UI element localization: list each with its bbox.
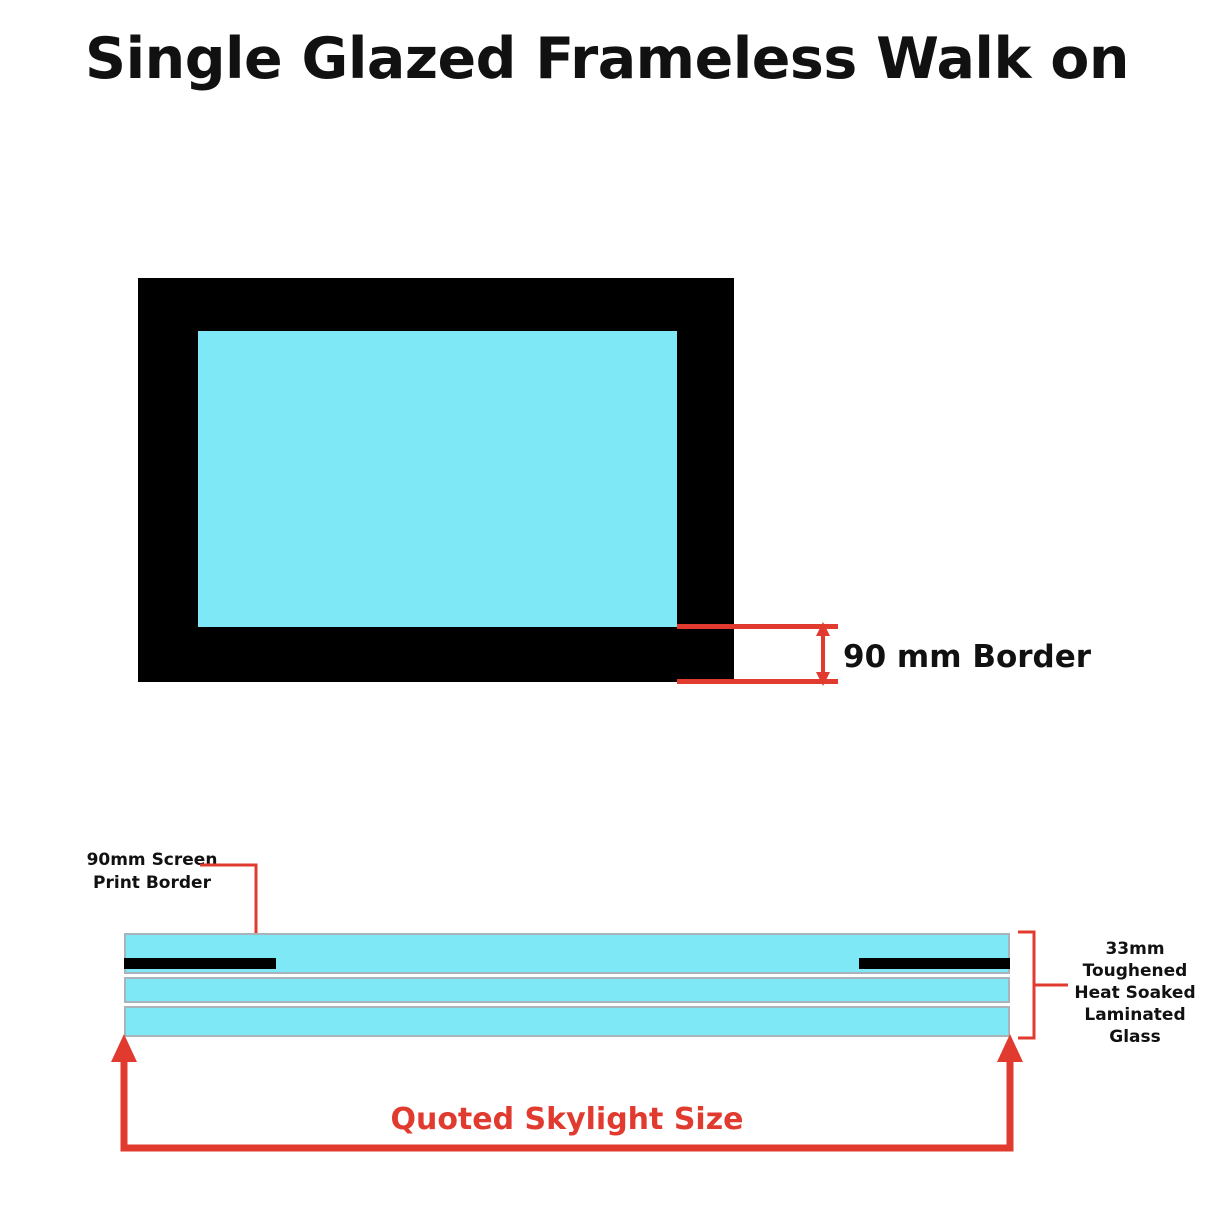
glass-spec-line-2: Toughened [1083, 961, 1188, 981]
print-band-left [124, 958, 276, 969]
glass-layer-middle [124, 977, 1010, 1003]
page-title: Single Glazed Frameless Walk on [0, 26, 1214, 92]
plan-view-vision-area [198, 331, 677, 627]
glass-spec-line-4: Laminated Glass [1084, 1005, 1185, 1047]
border-dimension-arrow-icon [808, 620, 838, 688]
quoted-size-dimension-arrow-icon [106, 1030, 1028, 1160]
glass-spec-line-1: 33mm [1105, 939, 1164, 959]
quoted-size-label: Quoted Skylight Size [307, 1102, 827, 1137]
border-dimension-label: 90 mm Border [843, 639, 1091, 675]
glass-specification-label: 33mm Toughened Heat Soaked Laminated Gla… [1060, 938, 1210, 1048]
glass-spec-line-3: Heat Soaked [1074, 983, 1195, 1003]
print-band-right [859, 958, 1010, 969]
screen-print-border-line-2: Print Border [93, 873, 211, 893]
diagram-canvas: Single Glazed Frameless Walk on 90 mm Bo… [0, 0, 1214, 1214]
